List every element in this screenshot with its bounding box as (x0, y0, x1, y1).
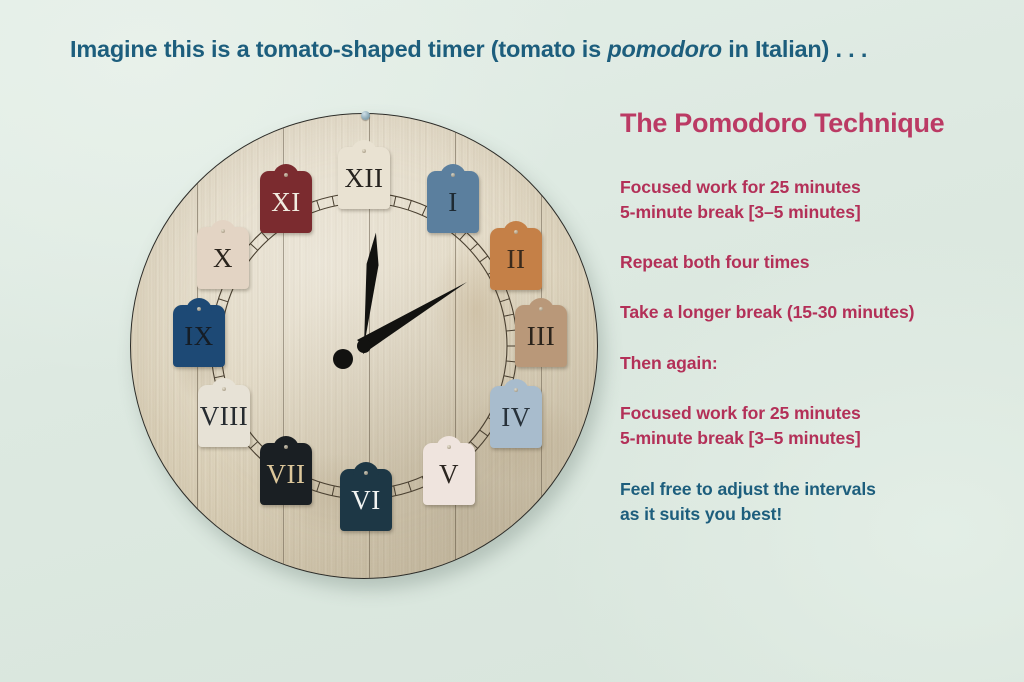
hand-counterweight (333, 349, 353, 369)
headline-italic-word: pomodoro (607, 36, 722, 62)
page-title: Imagine this is a tomato-shaped timer (t… (70, 36, 970, 63)
technique-step: Take a longer break (15-30 minutes) (620, 300, 1020, 325)
clock-dial: XIIIIIIIIIVVVIVIIVIIIIXXXI (130, 113, 598, 579)
technique-step: Focused work for 25 minutes5-minute brea… (620, 401, 1020, 451)
technique-step: Focused work for 25 minutes5-minute brea… (620, 175, 1020, 225)
panel-title: The Pomodoro Technique (620, 108, 1020, 139)
technique-step: Feel free to adjust the intervalsas it s… (620, 477, 1020, 527)
technique-step-line: Focused work for 25 minutes (620, 401, 1020, 426)
technique-step-line: 5-minute break [3–5 minutes] (620, 200, 1020, 225)
clock-hanger-screw (361, 111, 370, 120)
technique-step-line: Take a longer break (15-30 minutes) (620, 300, 1020, 325)
technique-steps: Focused work for 25 minutes5-minute brea… (620, 175, 1020, 527)
technique-step-line: Repeat both four times (620, 250, 1020, 275)
technique-step-line: as it suits you best! (620, 502, 1020, 527)
headline-part-2: in Italian) . . . (722, 36, 867, 62)
wall-clock-image: XIIIIIIIIIVVVIVIIVIIIIXXXI (118, 100, 610, 592)
technique-step: Then again: (620, 351, 1020, 376)
technique-step-line: Focused work for 25 minutes (620, 175, 1020, 200)
hand-pivot (357, 339, 371, 353)
technique-panel: The Pomodoro Technique Focused work for … (620, 108, 1020, 527)
slide-canvas: Imagine this is a tomato-shaped timer (t… (0, 0, 1024, 682)
technique-step-line: Then again: (620, 351, 1020, 376)
technique-step: Repeat both four times (620, 250, 1020, 275)
technique-step-line: 5-minute break [3–5 minutes] (620, 426, 1020, 451)
headline-part-1: Imagine this is a tomato-shaped timer (t… (70, 36, 607, 62)
clock-hands (131, 114, 597, 578)
technique-step-line: Feel free to adjust the intervals (620, 477, 1020, 502)
